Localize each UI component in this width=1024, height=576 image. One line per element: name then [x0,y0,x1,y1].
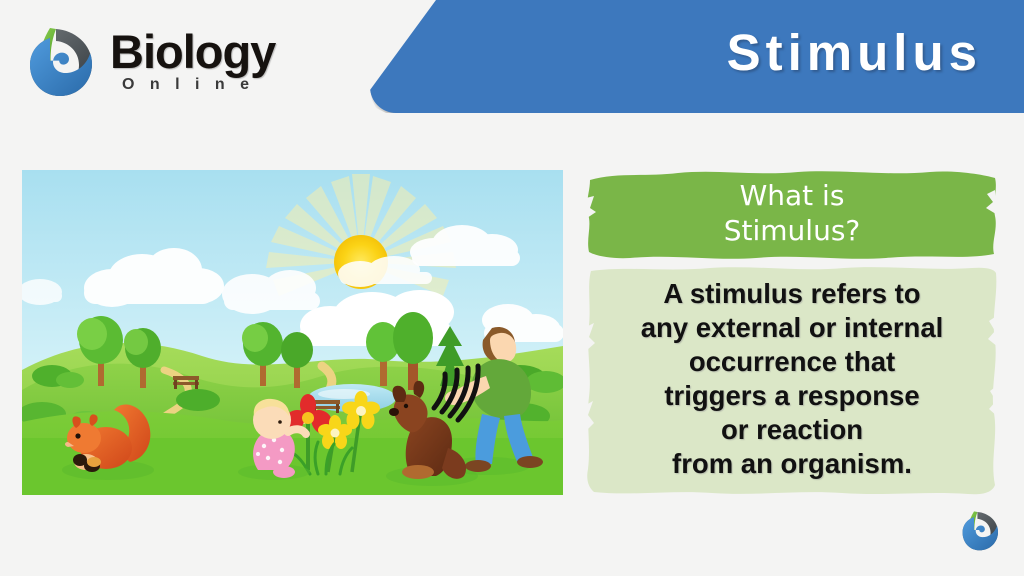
question-heading: What is Stimulus? [586,178,998,248]
definition-text: A stimulus refers to any external or int… [594,277,990,481]
info-panel: What is Stimulus? A stimulus refers to a… [586,168,998,496]
page-title: Stimulus [727,23,982,82]
biology-online-leaf-b-logo-icon [22,22,106,106]
brand-wordmark: Biology O n l i n e [110,24,350,108]
page-header: Biology O n l i n e Stimulus [0,0,1024,130]
footer-biology-online-logo-icon[interactable] [958,508,1006,556]
acorn [87,457,101,467]
definition-box: A stimulus refers to any external or int… [586,265,998,496]
dog-snout [389,408,399,416]
man-shoe-right [517,456,543,468]
stimulus-illustration [22,170,563,495]
brand-logo[interactable]: Biology O n l i n e [22,18,352,110]
question-box: What is Stimulus? [586,168,998,261]
brand-name: Biology [110,24,275,80]
brand-subtitle: O n l i n e [122,76,255,94]
